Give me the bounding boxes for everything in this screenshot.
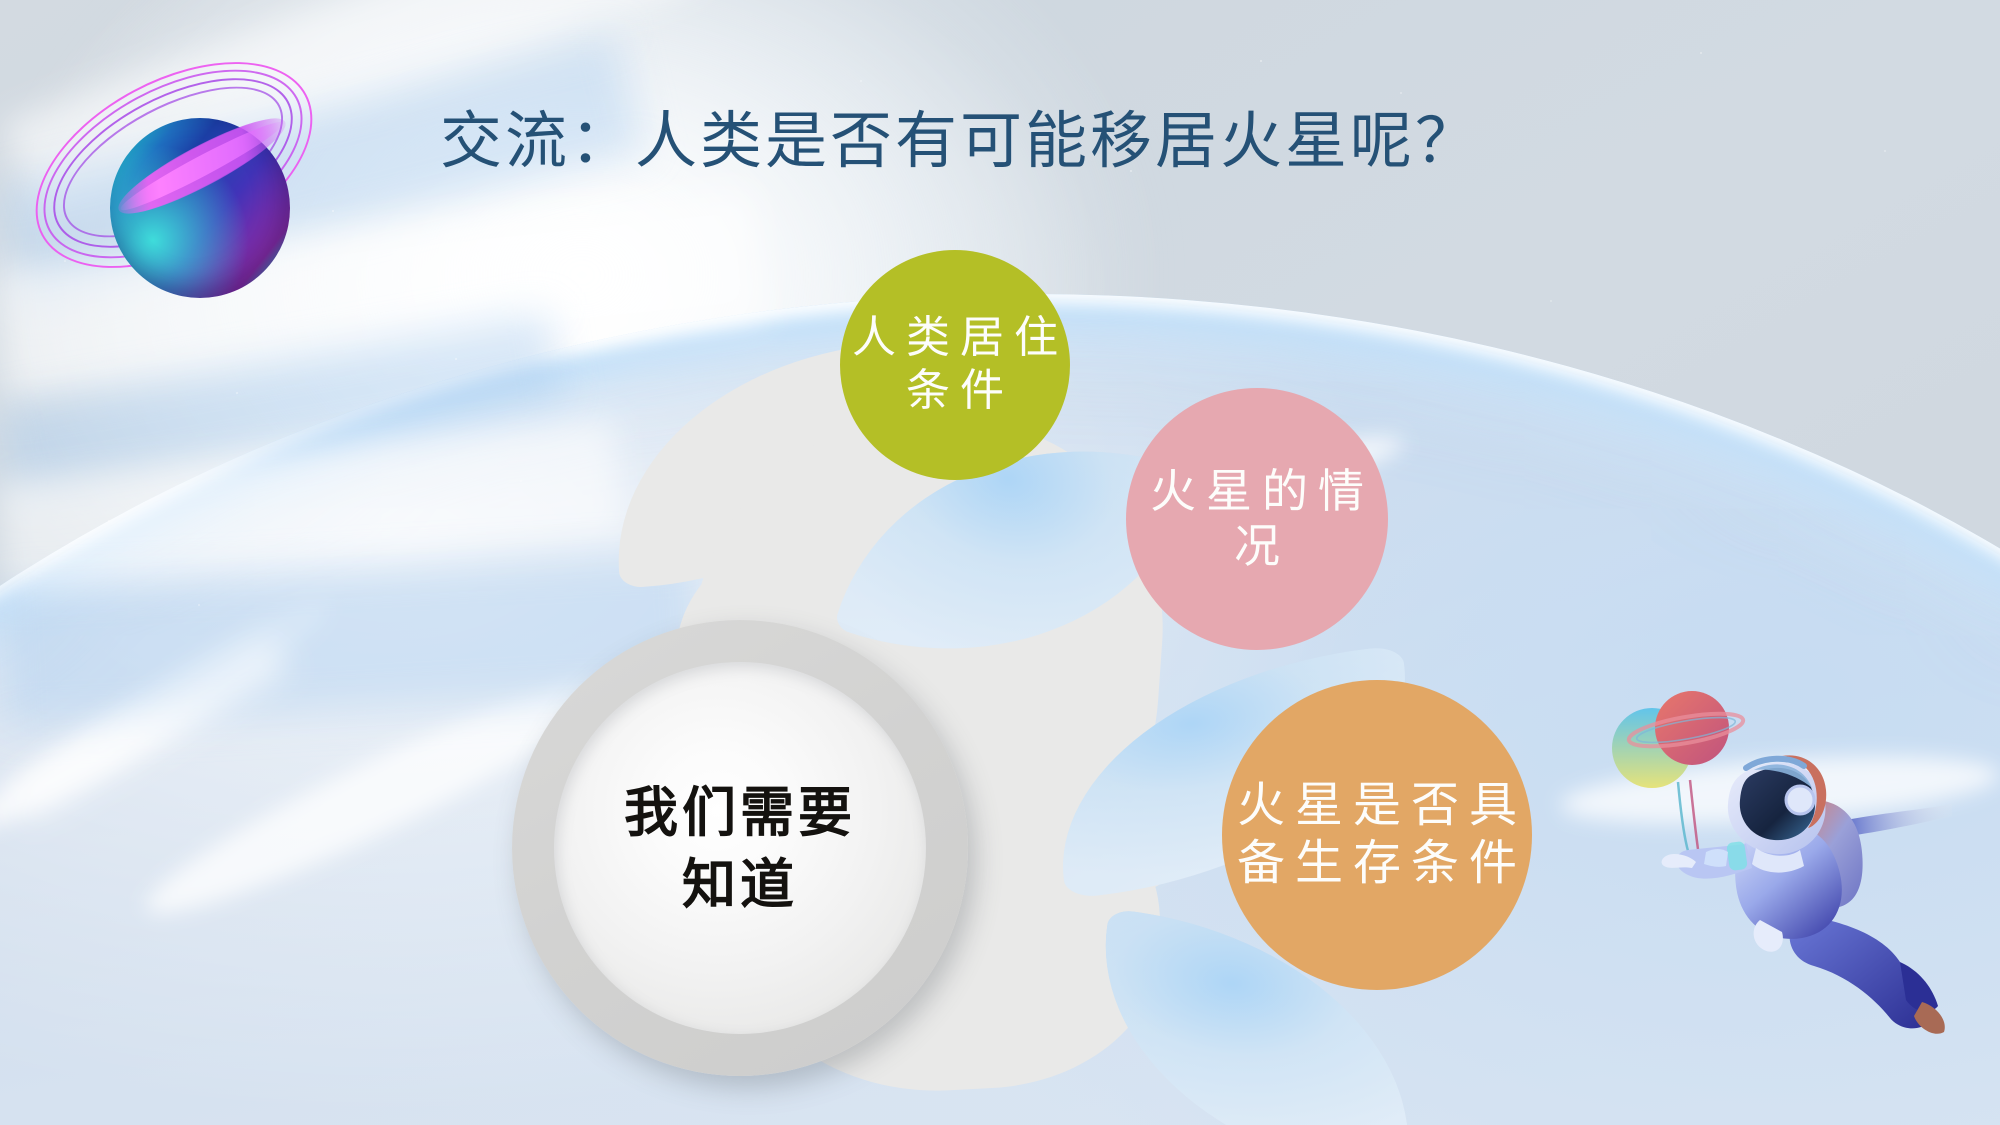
page-title: 交流：人类是否有可能移居火星呢？ (440, 90, 1480, 180)
center-node[interactable]: 我们需要 知道 (512, 620, 968, 1076)
center-node-line-2: 知道 (624, 848, 856, 920)
bubble-mars-survival-conditions[interactable]: 火星是否具备生存条件 (1222, 680, 1532, 990)
bubble-mars-situation[interactable]: 火星的情况 (1126, 388, 1388, 650)
bubble-label-pink: 火星的情况 (1126, 464, 1388, 574)
astronaut-icon (1600, 670, 1960, 1040)
center-node-label: 我们需要 知道 (624, 776, 856, 921)
ringed-planet-icon (18, 18, 328, 318)
bubble-label-orange: 火星是否具备生存条件 (1222, 777, 1532, 892)
bubble-human-living-conditions[interactable]: 人类居住条件 (840, 250, 1070, 480)
slide-canvas: 交流：人类是否有可能移居火星呢？ 我们需要 知道 人类居住条件 火星的情况 火星… (0, 0, 2000, 1125)
bubble-label-green: 人类居住条件 (840, 312, 1070, 418)
center-node-face: 我们需要 知道 (554, 662, 926, 1034)
center-node-line-1: 我们需要 (624, 776, 856, 848)
